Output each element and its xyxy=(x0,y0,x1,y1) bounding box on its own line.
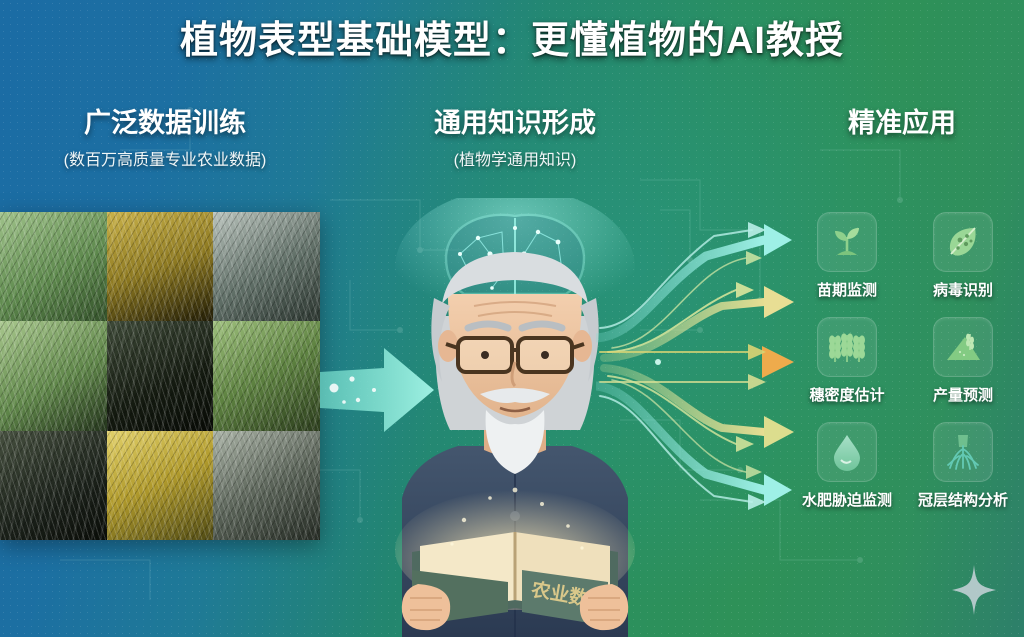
seedling-icon xyxy=(828,223,866,261)
application-item-virus-identification[interactable]: 病毒识别 xyxy=(909,212,1017,300)
application-item-spike-density[interactable]: 穗密度估计 xyxy=(793,317,901,405)
application-label: 产量预测 xyxy=(933,384,993,405)
application-label: 苗期监测 xyxy=(817,279,877,300)
diseased-leaf-icon xyxy=(944,223,982,261)
column-header-applications: 精准应用 xyxy=(780,108,1024,139)
application-label: 冠层结构分析 xyxy=(918,489,1008,510)
column-subheading: (植物学通用知识) xyxy=(370,146,660,170)
sample-image-cell xyxy=(213,321,320,430)
sample-image-cell xyxy=(107,431,214,540)
icon-tile[interactable] xyxy=(933,422,993,482)
application-label: 水肥胁迫监测 xyxy=(802,489,892,510)
sample-image-cell xyxy=(107,212,214,321)
application-item-yield-prediction[interactable]: 产量预测 xyxy=(909,317,1017,405)
application-label: 病毒识别 xyxy=(933,279,993,300)
sample-image-cell xyxy=(213,212,320,321)
four-point-star-icon xyxy=(952,565,996,615)
application-grid: 苗期监测 病毒识别 xyxy=(793,212,1017,510)
grain-yield-icon xyxy=(944,328,982,366)
sample-image-cell xyxy=(0,431,107,540)
column-heading: 广泛数据训练 xyxy=(20,108,310,139)
icon-tile[interactable] xyxy=(817,212,877,272)
sample-image-cell xyxy=(213,431,320,540)
icon-tile[interactable] xyxy=(933,317,993,377)
application-item-seedling-monitoring[interactable]: 苗期监测 xyxy=(793,212,901,300)
column-heading: 精准应用 xyxy=(780,108,1024,139)
page-title: 植物表型基础模型：更懂植物的AI教授 xyxy=(0,9,1024,64)
wheat-ears-icon xyxy=(827,328,867,366)
application-item-canopy-structure[interactable]: 冠层结构分析 xyxy=(909,422,1017,510)
infographic-poster: 植物表型基础模型：更懂植物的AI教授 广泛数据训练 (数百万高质量专业农业数据)… xyxy=(0,0,1024,637)
fanning-output-arrows xyxy=(596,210,822,520)
column-header-knowledge: 通用知识形成 (植物学通用知识) xyxy=(370,108,660,170)
application-item-water-nutrient-stress[interactable]: 水肥胁迫监测 xyxy=(793,422,901,510)
root-structure-icon xyxy=(943,432,983,472)
icon-tile[interactable] xyxy=(817,422,877,482)
sample-image-cell xyxy=(0,212,107,321)
icon-tile[interactable] xyxy=(933,212,993,272)
icon-tile[interactable] xyxy=(817,317,877,377)
sample-image-cell xyxy=(0,321,107,430)
agriculture-sample-image-grid xyxy=(0,212,320,540)
application-label: 穗密度估计 xyxy=(809,384,884,405)
column-subheading: (数百万高质量专业农业数据) xyxy=(20,146,310,170)
column-header-data-training: 广泛数据训练 (数百万高质量专业农业数据) xyxy=(20,108,310,170)
column-heading: 通用知识形成 xyxy=(370,108,660,139)
water-drop-icon xyxy=(830,432,864,472)
sample-image-cell xyxy=(107,321,214,430)
